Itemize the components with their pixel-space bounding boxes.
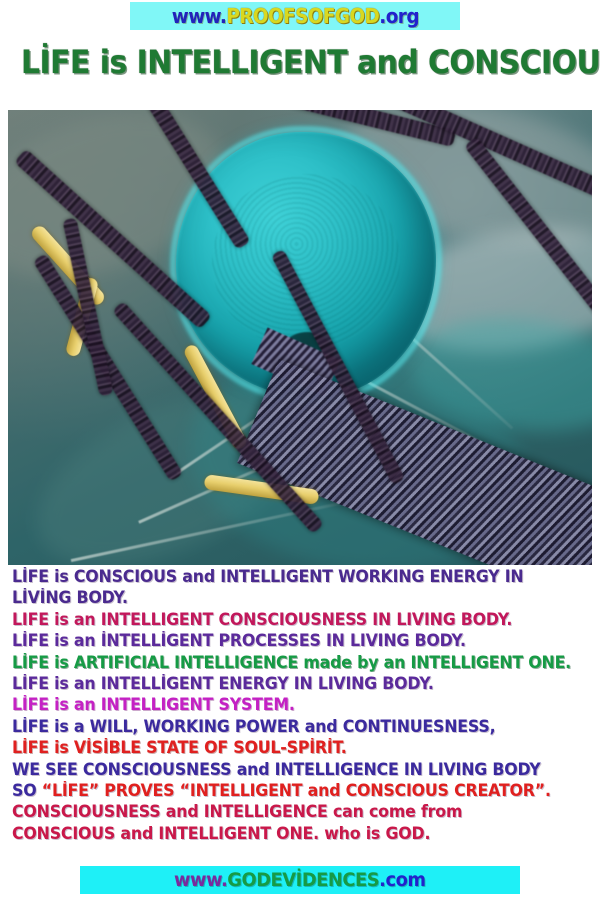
slogan-line: LIFE is an INTELLIGENT CONSCIOUSNESS IN … (12, 609, 579, 630)
bottom-url-domain: GODEVİDENCES (228, 869, 380, 891)
slogan-line: LİFE is VİSİBLE STATE OF SOUL-SPİRİT. (12, 737, 579, 758)
bottom-url-text: www.GODEVİDENCES.com (174, 871, 425, 890)
slogan-text-block: LİFE is CONSCIOUS and INTELLIGENT WORKIN… (0, 566, 600, 844)
top-url-text: www.PROOFSOFGOD.org (171, 6, 418, 26)
slogan-line: WE SEE CONSCIOUSNESS and INTELLIGENCE IN… (12, 759, 579, 780)
slogan-line: LİFE is CONSCIOUS and INTELLIGENT WORKIN… (12, 566, 579, 587)
slogan-line: CONSCIOUS and INTELLIGENT ONE. who is GO… (12, 823, 579, 844)
cell-photograph (8, 110, 592, 565)
slogan-line: CONSCIOUSNESS and INTELLIGENCE can come … (12, 801, 579, 822)
slogan-segment-lead: SO (12, 781, 42, 800)
slogan-line: LİFE is an INTELLIGENT SYSTEM. (12, 694, 579, 715)
top-url-domain: PROOFSOFGOD (226, 4, 379, 28)
bottom-url-prefix: www. (174, 869, 227, 891)
bottom-url-banner[interactable]: www.GODEVİDENCES.com (80, 866, 520, 894)
bottom-url-tld: .com (379, 869, 425, 891)
top-url-banner[interactable]: www.PROOFSOFGOD.org (130, 2, 460, 30)
top-url-prefix: www. (171, 4, 226, 28)
slogan-line-mixed: SO “LİFE” PROVES “INTELLIGENT and CONSCI… (12, 780, 579, 801)
photo-background (8, 110, 592, 565)
slogan-line: LİFE is an INTELLİGENT ENERGY IN LIVING … (12, 673, 579, 694)
slogan-line: LİFE is ARTIFICIAL INTELLIGENCE made by … (12, 652, 579, 673)
slogan-line: LİVİNG BODY. (12, 587, 579, 608)
page-title: LİFE is INTELLIGENT and CONSCIOUS ENERGY (21, 46, 579, 78)
slogan-line: LİFE is an İNTELLİGENT PROCESSES IN LIVI… (12, 630, 579, 651)
slogan-segment-rest: “LİFE” PROVES “INTELLIGENT and CONSCIOUS… (42, 781, 551, 800)
poster-root: www.PROOFSOFGOD.org LİFE is INTELLIGENT … (0, 0, 600, 900)
slogan-line: LİFE is a WILL, WORKING POWER and CONTIN… (12, 716, 579, 737)
top-url-tld: .org (379, 4, 419, 28)
